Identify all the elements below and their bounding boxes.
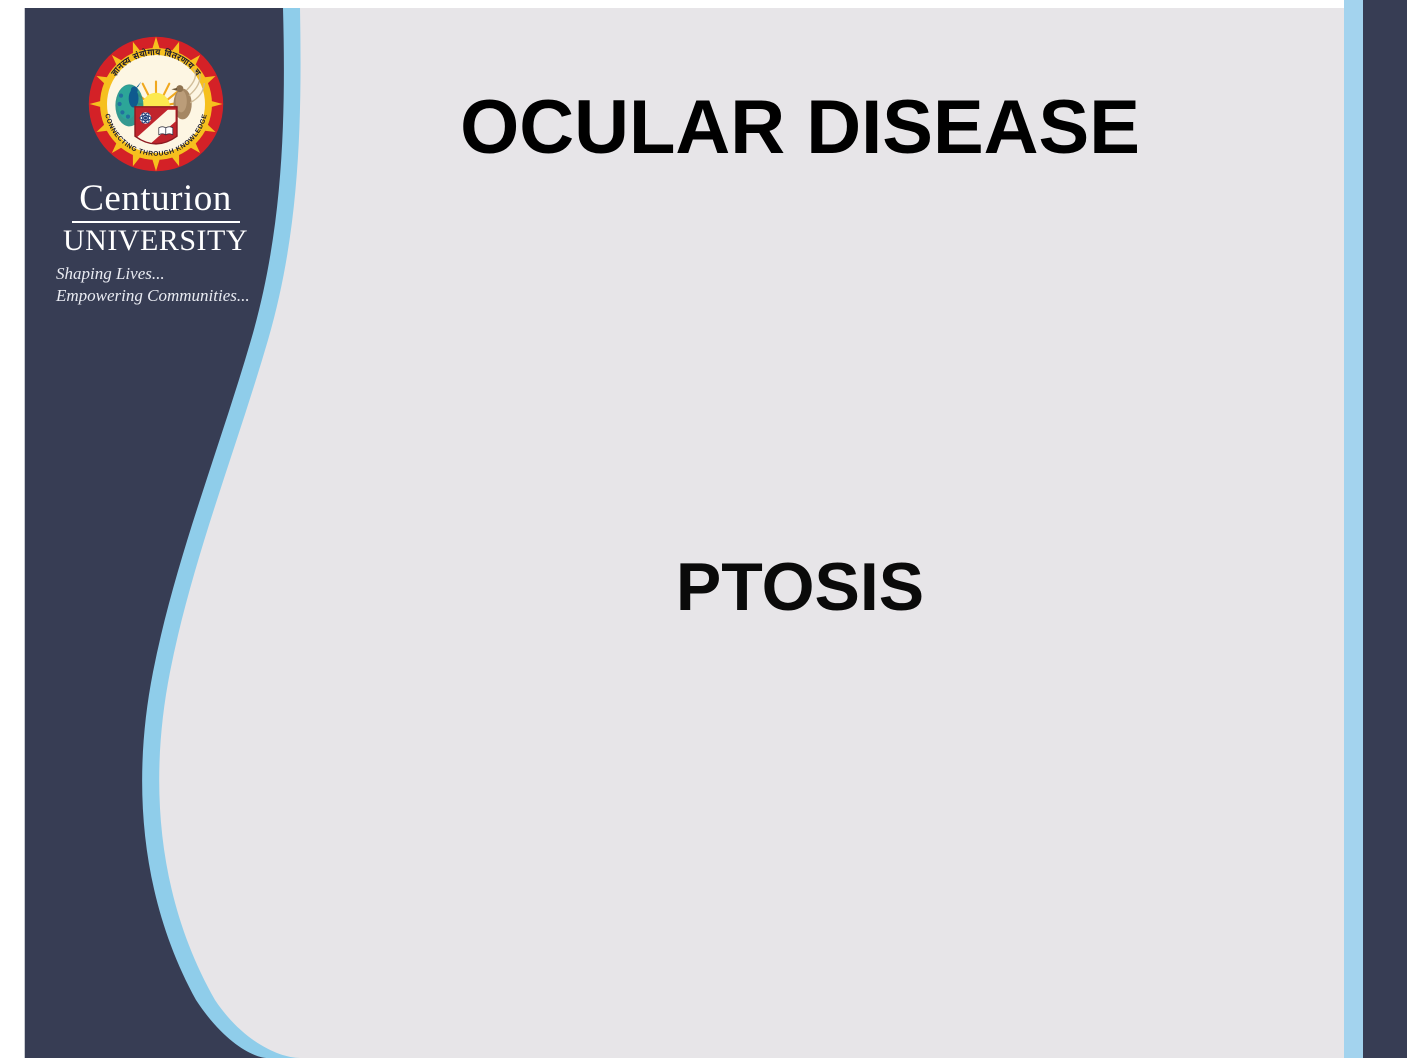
right-edge-blue-stripe [1344, 0, 1363, 1058]
wordmark-divider-rule [72, 221, 240, 223]
tagline-line-2: Empowering Communities... [56, 285, 263, 307]
slide-subtitle: PTOSIS [300, 552, 1300, 623]
right-edge-white-margin [1407, 0, 1411, 1058]
tagline-line-1: Shaping Lives... [56, 263, 263, 285]
wordmark-centurion: Centurion [48, 180, 263, 219]
university-logo-lockup: ज्ञानस्य संयोगाय वितरणाय च CONNECTING TH… [48, 34, 263, 307]
emblem-shield-atom [139, 112, 150, 124]
title-placeholder: OCULAR DISEASE [300, 88, 1300, 168]
presentation-slide: ज्ञानस्य संयोगाय वितरणाय च CONNECTING TH… [0, 0, 1411, 1058]
subtitle-placeholder: PTOSIS [300, 552, 1300, 623]
top-white-margin [0, 0, 1344, 8]
wordmark-university: UNIVERSITY [48, 226, 263, 256]
university-wordmark: Centurion UNIVERSITY [48, 180, 263, 256]
university-tagline: Shaping Lives... Empowering Communities.… [48, 263, 263, 307]
centurion-university-emblem-icon: ज्ञानस्य संयोगाय वितरणाय च CONNECTING TH… [86, 34, 226, 174]
emblem-shield-book [158, 127, 172, 135]
right-edge-navy-stripe [1363, 0, 1407, 1058]
slide-title: OCULAR DISEASE [300, 88, 1300, 168]
